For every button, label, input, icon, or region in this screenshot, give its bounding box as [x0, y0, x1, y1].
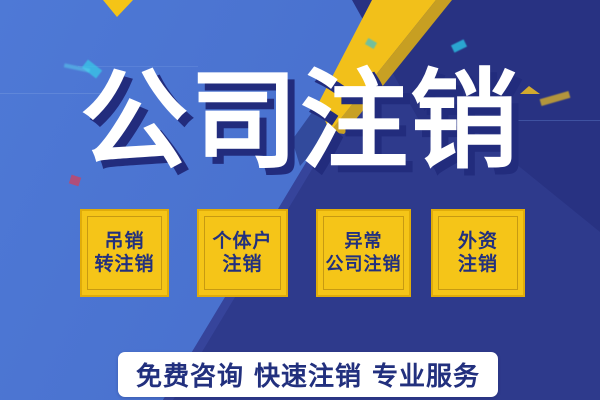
service-tag-diaoxiao-zhuanzhuxiao[interactable]: 吊销 转注销: [80, 209, 169, 297]
tag-label: 异常 公司注销: [326, 230, 402, 276]
service-tag-yichang-gongsi-zhuxiao[interactable]: 异常 公司注销: [316, 209, 411, 297]
tag-label: 吊销 转注销: [94, 230, 154, 276]
headline-block: 公司注销 公司注销: [0, 56, 600, 196]
footer-banner-label: 免费咨询 快速注销 专业服务: [136, 356, 480, 393]
service-tag-list: 吊销 转注销 个体户 注销 异常 公司注销 外资 注销: [0, 209, 600, 301]
tag-label: 外资 注销: [458, 230, 498, 276]
service-tag-waizi-zhuxiao[interactable]: 外资 注销: [431, 209, 525, 297]
yellow-triangle-confetti-icon: [103, 0, 133, 17]
tag-label: 个体户 注销: [212, 230, 272, 276]
footer-banner[interactable]: 免费咨询 快速注销 专业服务: [118, 352, 498, 397]
service-tag-getihu-zhuxiao[interactable]: 个体户 注销: [197, 209, 288, 297]
page-title: 公司注销: [0, 56, 600, 188]
promo-poster: 公司注销 公司注销 吊销 转注销 个体户 注销 异常 公司注销 外资 注销 免费…: [0, 0, 600, 400]
